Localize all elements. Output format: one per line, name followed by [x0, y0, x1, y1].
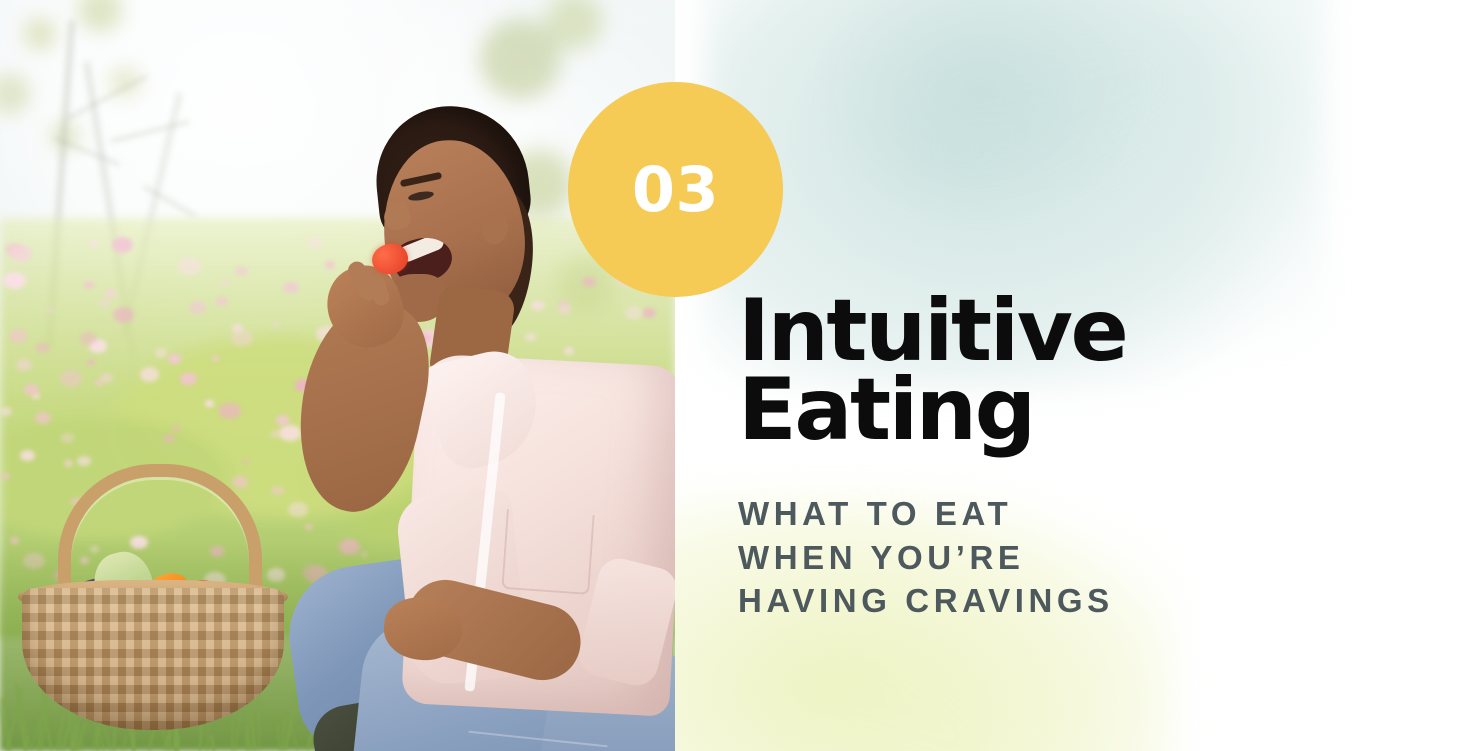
page-title: Intuitive Eating: [738, 292, 1378, 450]
headline-block: Intuitive Eating WHAT TO EAT WHEN YOU’RE…: [738, 292, 1378, 623]
page-subtitle: WHAT TO EAT WHEN YOU’RE HAVING CRAVINGS: [738, 450, 1378, 623]
hero-photo: [0, 0, 675, 751]
subtitle-line-3: HAVING CRAVINGS: [738, 582, 1114, 619]
section-number-badge: 03: [568, 82, 783, 297]
watercolor-wash-teal-accent-icon: [815, 0, 1145, 220]
basket-weave: [22, 588, 284, 730]
subtitle-line-1: WHAT TO EAT: [738, 495, 1012, 532]
presentation-slide: 03 Intuitive Eating WHAT TO EAT WHEN YOU…: [0, 0, 1458, 751]
title-line-2: Eating: [738, 360, 1034, 460]
vegetable-basket: [22, 470, 302, 730]
subtitle-line-2: WHEN YOU’RE: [738, 539, 1025, 576]
section-number-text: 03: [632, 159, 719, 221]
shirt-pocket: [501, 509, 594, 595]
